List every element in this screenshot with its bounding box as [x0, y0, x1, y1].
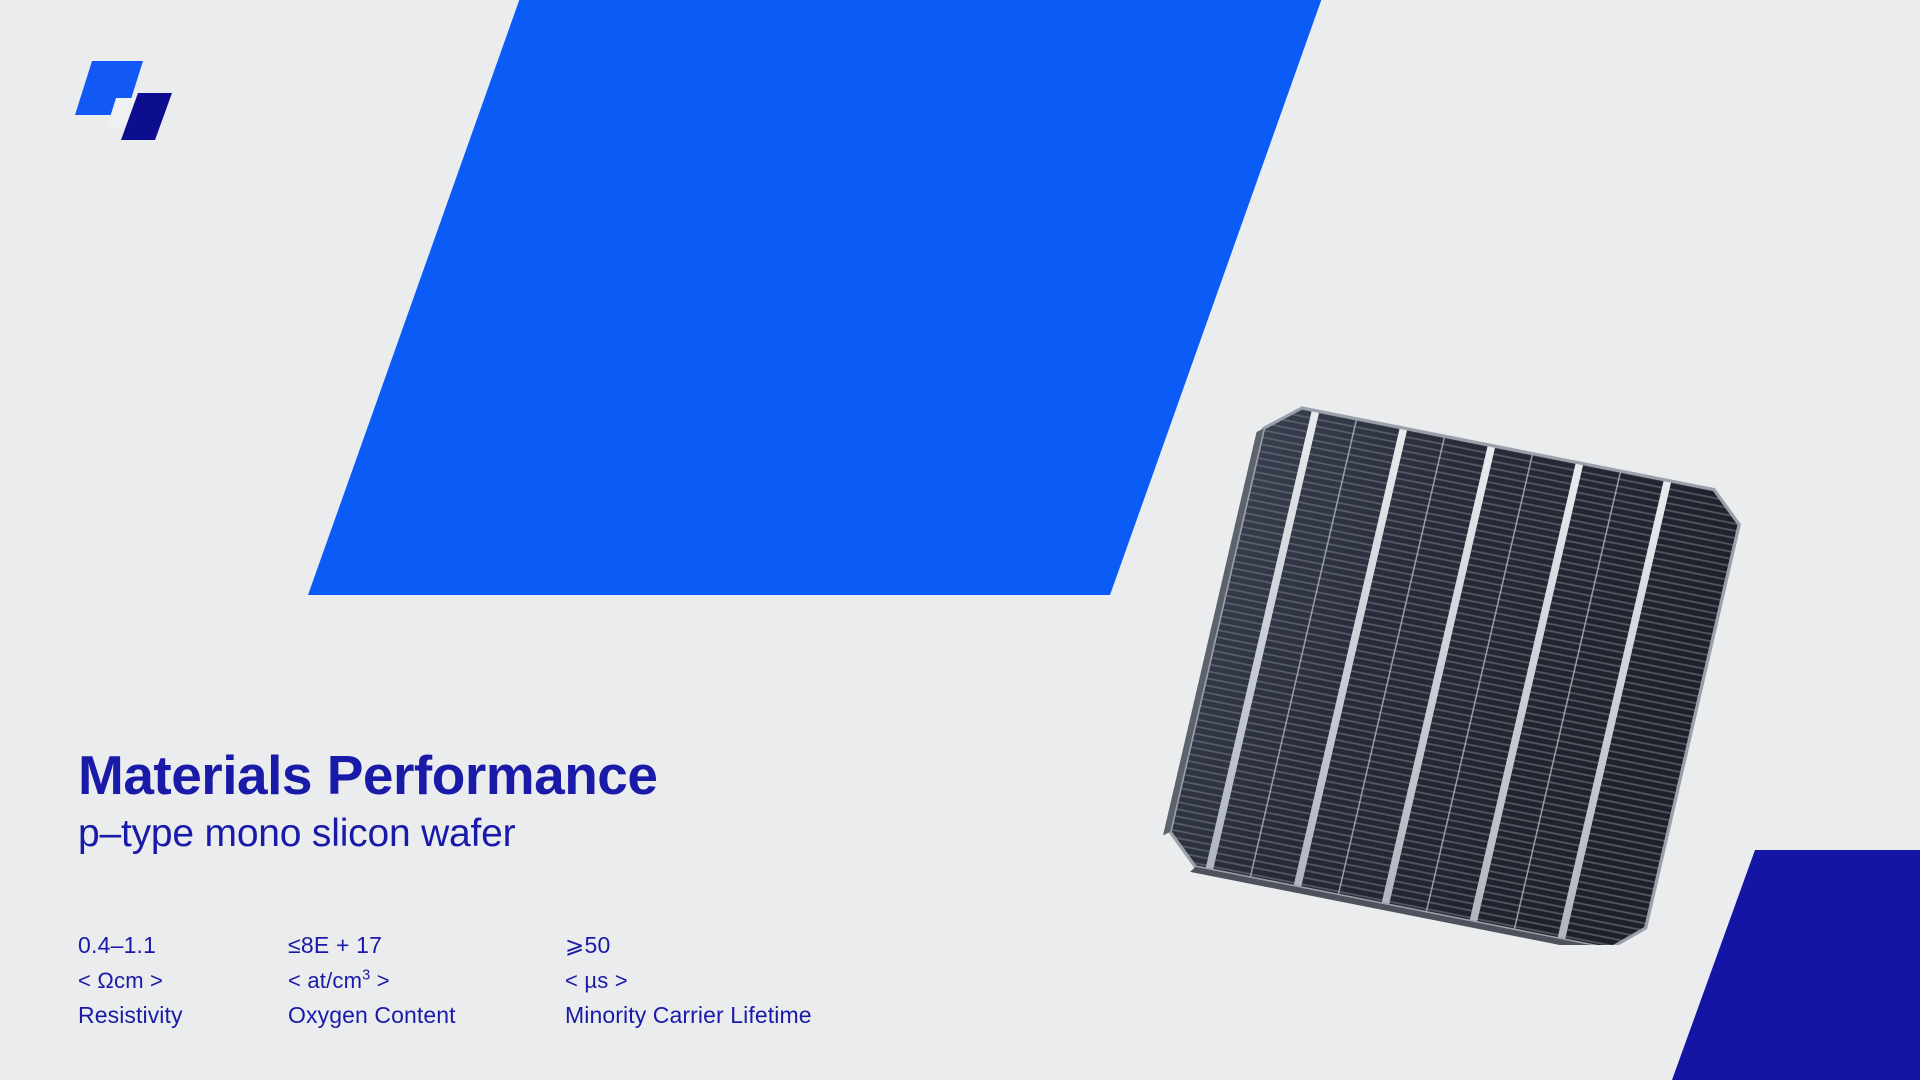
- spec-unit-suffix: >: [608, 968, 627, 993]
- spec-column-minority-carrier-lifetime: ⩾50 < µs > Minority Carrier Lifetime: [565, 928, 812, 1033]
- spec-unit-suffix: >: [370, 968, 389, 993]
- page-title: Materials Performance: [78, 745, 1078, 807]
- spec-unit-prefix: <: [78, 968, 97, 993]
- spec-unit: < µs >: [565, 964, 812, 998]
- spec-value: ≤8E + 17: [288, 928, 565, 964]
- brand-logo: [68, 55, 178, 140]
- spec-column-oxygen-content: ≤8E + 17 < at/cm3 > Oxygen Content: [288, 928, 565, 1033]
- spec-row: 0.4–1.1 < Ωcm > Resistivity ≤8E + 17 < a…: [78, 928, 812, 1033]
- spec-column-resistivity: 0.4–1.1 < Ωcm > Resistivity: [78, 928, 288, 1033]
- spec-unit-prefix: <: [565, 968, 584, 993]
- spec-unit-text: µs: [584, 968, 608, 993]
- spec-label: Oxygen Content: [288, 998, 565, 1034]
- spec-unit-text: at/cm: [307, 968, 362, 993]
- spec-value: 0.4–1.1: [78, 928, 288, 964]
- navy-corner-wedge: [1660, 850, 1920, 1080]
- slide-canvas: Materials Performance p–type mono slicon…: [0, 0, 1920, 1080]
- spec-unit-prefix: <: [288, 968, 307, 993]
- spec-value: ⩾50: [565, 928, 812, 964]
- headline-block: Materials Performance p–type mono slicon…: [78, 745, 1078, 857]
- spec-unit: < at/cm3 >: [288, 964, 565, 998]
- spec-unit-text: Ωcm: [97, 968, 143, 993]
- spec-label: Minority Carrier Lifetime: [565, 998, 812, 1034]
- page-subtitle: p–type mono slicon wafer: [78, 811, 1078, 858]
- spec-unit: < Ωcm >: [78, 964, 288, 998]
- spec-unit-suffix: >: [144, 968, 163, 993]
- spec-label: Resistivity: [78, 998, 288, 1034]
